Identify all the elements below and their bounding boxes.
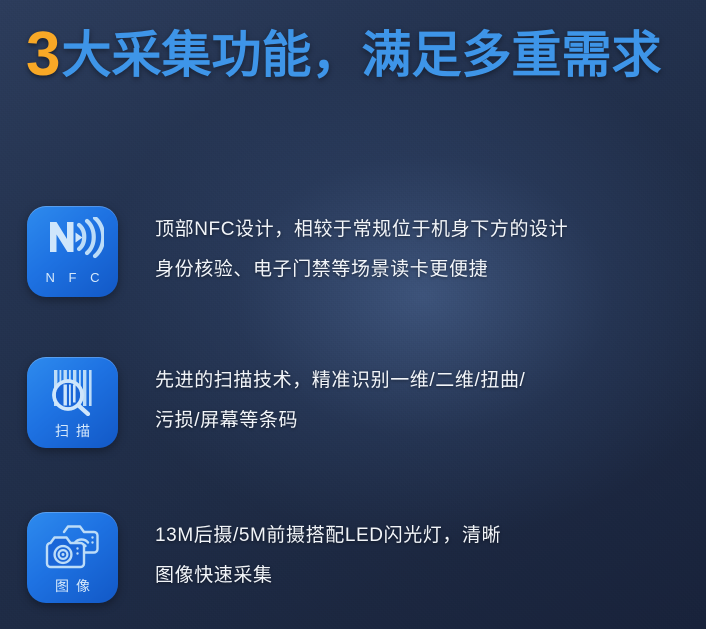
feature-row: 图像 13M后摄/5M前摄搭配LED闪光灯，清晰 图像快速采集 bbox=[27, 512, 687, 604]
barcode-scan-icon bbox=[42, 368, 104, 416]
feature-description: 顶部NFC设计，相较于常规位于机身下方的设计 身份核验、电子门禁等场景读卡更便捷 bbox=[155, 206, 687, 290]
nfc-icon bbox=[42, 217, 104, 265]
feature-description: 13M后摄/5M前摄搭配LED闪光灯，清晰 图像快速采集 bbox=[155, 512, 687, 596]
title-number: 3 bbox=[26, 20, 59, 89]
page-title: 3大采集功能，满足多重需求 bbox=[26, 24, 661, 86]
feature-description: 先进的扫描技术，精准识别一维/二维/扭曲/ 污损/屏幕等条码 bbox=[155, 357, 687, 441]
tile-label: 图像 bbox=[48, 576, 97, 596]
feature-icon-tile-image: 图像 bbox=[27, 512, 118, 603]
feature-line: 13M后摄/5M前摄搭配LED闪光灯，清晰 bbox=[155, 516, 687, 556]
feature-line: 先进的扫描技术，精准识别一维/二维/扭曲/ bbox=[155, 361, 687, 401]
feature-row: 扫描 先进的扫描技术，精准识别一维/二维/扭曲/ 污损/屏幕等条码 bbox=[27, 357, 687, 449]
feature-row: N F C 顶部NFC设计，相较于常规位于机身下方的设计 身份核验、电子门禁等场… bbox=[27, 206, 687, 298]
feature-line: 顶部NFC设计，相较于常规位于机身下方的设计 bbox=[155, 210, 687, 250]
camera-icon bbox=[42, 523, 104, 571]
title-text: 大采集功能，满足多重需求 bbox=[61, 27, 661, 83]
feature-icon-tile-nfc: N F C bbox=[27, 206, 118, 297]
feature-line: 身份核验、电子门禁等场景读卡更便捷 bbox=[155, 250, 687, 290]
feature-line: 污损/屏幕等条码 bbox=[155, 401, 687, 441]
promo-page: 3大采集功能，满足多重需求 N F C 顶部NFC设计，相较于常规位于机身下方的… bbox=[0, 0, 706, 629]
feature-line: 图像快速采集 bbox=[155, 556, 687, 596]
feature-icon-tile-scan: 扫描 bbox=[27, 357, 118, 448]
tile-label: 扫描 bbox=[48, 421, 97, 441]
tile-label: N F C bbox=[41, 270, 105, 285]
